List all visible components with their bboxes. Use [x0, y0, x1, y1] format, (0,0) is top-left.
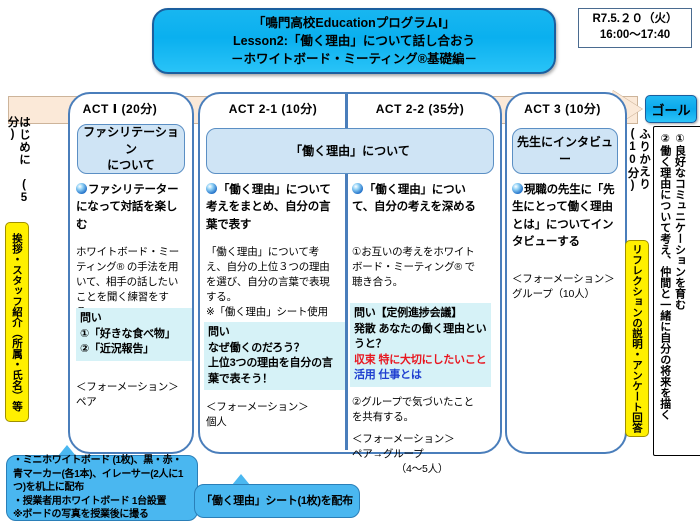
act1-goal: ファシリテーターになって対話を楽しむ	[76, 182, 188, 234]
act1-pill-line-2: について	[107, 157, 155, 174]
act2-2-goal: 「働く理由」について、自分の考えを深める	[352, 182, 484, 217]
act1-formation-title: ＜フォーメーション＞	[76, 380, 191, 395]
act1-header-pill: ファシリテーション について	[77, 124, 185, 174]
time-line: 16:00～17:40	[600, 28, 670, 44]
act3-formation: ＜フォーメーション＞ グループ（10人）	[512, 272, 622, 302]
act-label-4: ACT 3 (10分)	[490, 99, 635, 119]
page-title: 「鳴門高校EducationプログラムⅠ」 Lesson2:「働く理由」について…	[152, 8, 556, 74]
reflection-note-text: リフレクションの説明・アンケート回答	[627, 244, 647, 433]
outcome-item-1: ①良好なコミュニケーションを育む	[672, 132, 686, 450]
title-line-3: －ホワイトボード・ミーティング®基礎編－	[231, 50, 477, 68]
act2-pill-line-1: 「働く理由」について	[290, 143, 410, 160]
act3-header-pill: 先生にインタビュー	[512, 128, 618, 174]
act2-2-question-red: 収束 特に大切にしたいこと	[354, 353, 487, 369]
act3-goal: 現職の先生に「先生にとって働く理由とは」についてインタビューする	[512, 182, 620, 251]
act2-1-formation-value: 個人	[206, 415, 341, 430]
act2-2-step1: ①お互いの考えをホワイトボード・ミーティング® で聴き合う。	[352, 245, 484, 290]
act2-2-formation-value: ペア→グループ	[352, 447, 492, 462]
goal-bullet-icon	[352, 183, 363, 194]
act2-1-desc-text: 「働く理由」について考え、自分の上位３つの理由を選び、自分の言葉で表現する。	[206, 245, 338, 305]
intro-label: はじめに (5分)	[6, 116, 29, 208]
goal-bullet-icon	[206, 183, 217, 194]
reflection-label: ふりかえり (10分)	[626, 128, 649, 228]
act1-pill-line-1: ファシリテーション	[78, 124, 184, 158]
outcome-item-2: ②働く理由について考え、仲間と一緒に自分の将来を描く	[657, 132, 671, 450]
intro-yellow-note: 挨拶・スタッフ紹介（所属・氏名）等	[5, 222, 29, 422]
date-line: R7.5.２０（火）	[593, 12, 678, 28]
act3-pill-line-1: 先生にインタビュー	[513, 134, 617, 168]
act2-2-question-blue: 活用 仕事とは	[354, 368, 487, 384]
intro-note-text: 挨拶・スタッフ紹介（所属・氏名）等	[7, 233, 27, 412]
act2-2-formation: ＜フォーメーション＞ ペア→グループ （4～5人）	[352, 432, 492, 478]
act3-formation-title: ＜フォーメーション＞	[512, 272, 622, 287]
act2-2-formation-title: ＜フォーメーション＞	[352, 432, 492, 447]
act1-question-box: 問い ①「好きな食べ物」 ②「近況報告」	[76, 308, 192, 361]
act2-2-question-box: 問い【定例進捗会議】 発散 あなたの働く理由というと？ 収束 特に大切にしたいこ…	[350, 303, 491, 387]
act2-1-goal: 「働く理由」について考えをまとめ、自分の言葉で表す	[206, 182, 338, 234]
act1-formation: ＜フォーメーション＞ ペア	[76, 380, 191, 410]
goal-bullet-icon	[76, 183, 87, 194]
act2-1-formation: ＜フォーメーション＞ 個人	[206, 400, 341, 430]
materials-callout: ・ミニホワイトボード (1枚)、黒・赤・青マーカー(各1本)、イレーサー(2人に…	[6, 455, 198, 521]
act3-formation-value: グループ（10人）	[512, 287, 622, 302]
act-label-3: ACT 2-2 (35分)	[345, 99, 495, 119]
goal-badge: ゴール	[645, 95, 697, 123]
act2-2-question-black: 発散 あなたの働く理由というと？	[354, 322, 487, 353]
date-box: R7.5.２０（火） 16:00～17:40	[578, 8, 692, 48]
lesson-plan-diagram: 「鳴門高校EducationプログラムⅠ」 Lesson2:「働く理由」について…	[0, 0, 700, 525]
sheet-callout: 「働く理由」シート(1枚)を配布	[194, 484, 360, 518]
act2-2-question-head: 問い【定例進捗会議】	[354, 306, 487, 322]
act2-1-desc-note: ※「働く理由」シート使用	[206, 305, 338, 320]
act-label-1: ACT Ⅰ (20分)	[40, 99, 200, 119]
act1-formation-value: ペア	[76, 395, 191, 410]
act2-2-formation-value2: （4～5人）	[352, 462, 492, 477]
outcomes-box: ①良好なコミュニケーションを育む ②働く理由について考え、仲間と一緒に自分の将来…	[653, 126, 700, 456]
title-line-2: Lesson2:「働く理由」について話し合おう	[233, 32, 475, 50]
title-line-1: 「鳴門高校EducationプログラムⅠ」	[253, 14, 455, 32]
act-label-2: ACT 2-1 (10分)	[198, 99, 348, 119]
act2-1-description: 「働く理由」について考え、自分の上位３つの理由を選び、自分の言葉で表現する。 ※…	[206, 245, 338, 320]
goal-bullet-icon	[512, 183, 523, 194]
act2-1-question-box: 問い なぜ働くのだろう？ 上位3つの理由を自分の言葉で表そう！	[204, 322, 345, 390]
reflection-yellow-note: リフレクションの説明・アンケート回答	[625, 240, 649, 437]
act2-1-formation-title: ＜フォーメーション＞	[206, 400, 341, 415]
act2-2-step2: ②グループで気づいたことを共有する。	[352, 395, 484, 425]
act2-header-pill: 「働く理由」について	[206, 128, 494, 174]
